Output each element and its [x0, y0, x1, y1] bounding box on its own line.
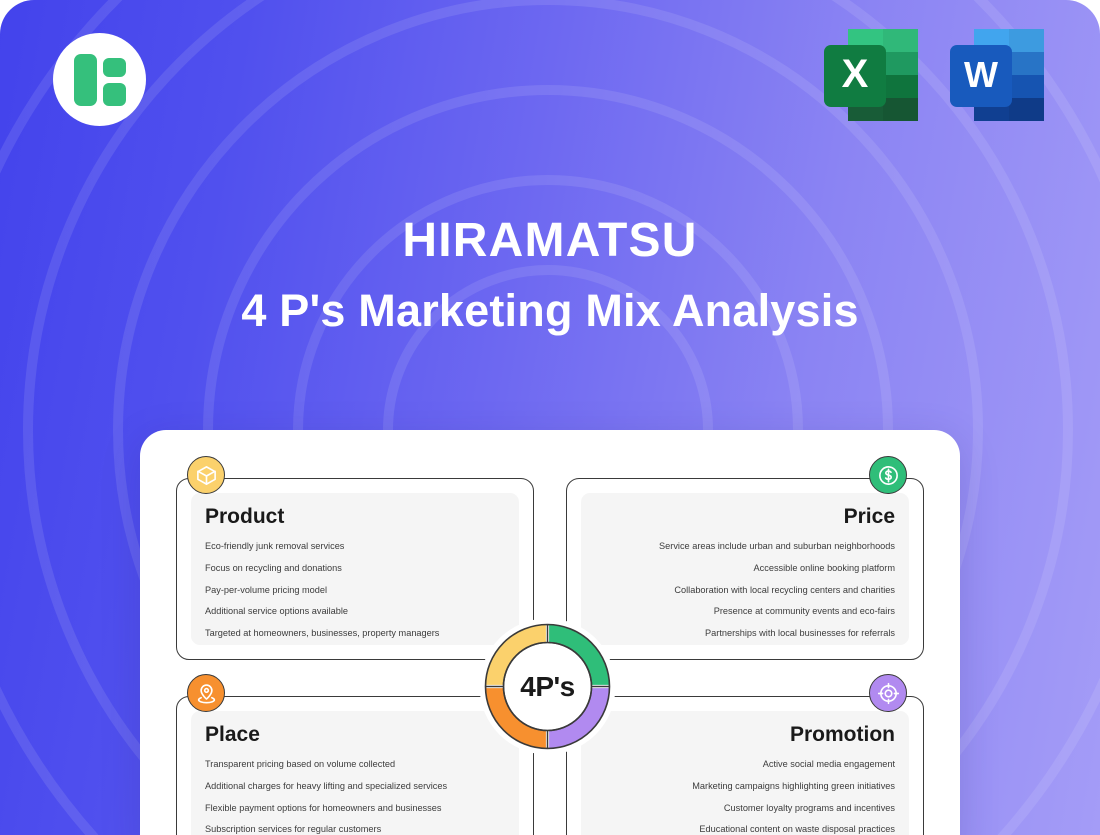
center-donut: 4P's: [478, 617, 617, 756]
title-block: HIRAMATSU 4 P's Marketing Mix Analysis: [0, 212, 1100, 338]
target-crosshair-icon[interactable]: [869, 674, 907, 712]
list-item: Partnerships with local businesses for r…: [595, 629, 895, 638]
quadrant-list: Service areas include urban and suburban…: [595, 542, 895, 638]
location-pin-icon[interactable]: [187, 674, 225, 712]
list-item: Educational content on waste disposal pr…: [595, 825, 895, 834]
list-item: Pay-per-volume pricing model: [205, 586, 505, 595]
list-item: Collaboration with local recycling cente…: [595, 586, 895, 595]
quadrant-title: Place: [205, 723, 505, 746]
slide-canvas: X W HIRAMATSU 4 P's Marketing Mix Analys…: [0, 0, 1100, 835]
list-item: Additional service options available: [205, 607, 505, 616]
quadrant-list: Active social media engagement Marketing…: [595, 760, 895, 835]
brand-logo: [53, 33, 146, 126]
grid-squares-logo-icon: [74, 54, 126, 106]
quadrant-title: Price: [595, 505, 895, 528]
list-item: Accessible online booking platform: [595, 564, 895, 573]
list-item: Targeted at homeowners, businesses, prop…: [205, 629, 505, 638]
quadrant-title: Promotion: [595, 723, 895, 746]
list-item: Eco-friendly junk removal services: [205, 542, 505, 551]
logo-square-3: [103, 83, 126, 106]
logo-square-2: [103, 58, 126, 77]
quadrant-title: Product: [205, 505, 505, 528]
quadrant-list: Transparent pricing based on volume coll…: [205, 760, 505, 835]
quadrant-promotion[interactable]: Promotion Active social media engagement…: [566, 696, 924, 835]
dollar-coin-icon[interactable]: [869, 456, 907, 494]
excel-letter: X: [842, 52, 869, 96]
company-name: HIRAMATSU: [0, 212, 1100, 270]
list-item: Transparent pricing based on volume coll…: [205, 760, 505, 769]
app-icon-group: X W: [820, 25, 1048, 125]
logo-square-1: [74, 54, 97, 106]
list-item: Subscription services for regular custom…: [205, 825, 505, 834]
list-item: Additional charges for heavy lifting and…: [205, 782, 505, 791]
package-box-icon[interactable]: [187, 456, 225, 494]
word-letter: W: [964, 54, 998, 95]
list-item: Focus on recycling and donations: [205, 564, 505, 573]
microsoft-excel-icon[interactable]: X: [820, 25, 922, 125]
list-item: Service areas include urban and suburban…: [595, 542, 895, 551]
list-item: Customer loyalty programs and incentives: [595, 804, 895, 813]
quadrant-price[interactable]: Price Service areas include urban and su…: [566, 478, 924, 660]
list-item: Marketing campaigns highlighting green i…: [595, 782, 895, 791]
list-item: Active social media engagement: [595, 760, 895, 769]
microsoft-word-icon[interactable]: W: [946, 25, 1048, 125]
quadrant-list: Eco-friendly junk removal services Focus…: [205, 542, 505, 638]
list-item: Flexible payment options for homeowners …: [205, 804, 505, 813]
list-item: Presence at community events and eco-fai…: [595, 607, 895, 616]
page-title: 4 P's Marketing Mix Analysis: [0, 284, 1100, 338]
